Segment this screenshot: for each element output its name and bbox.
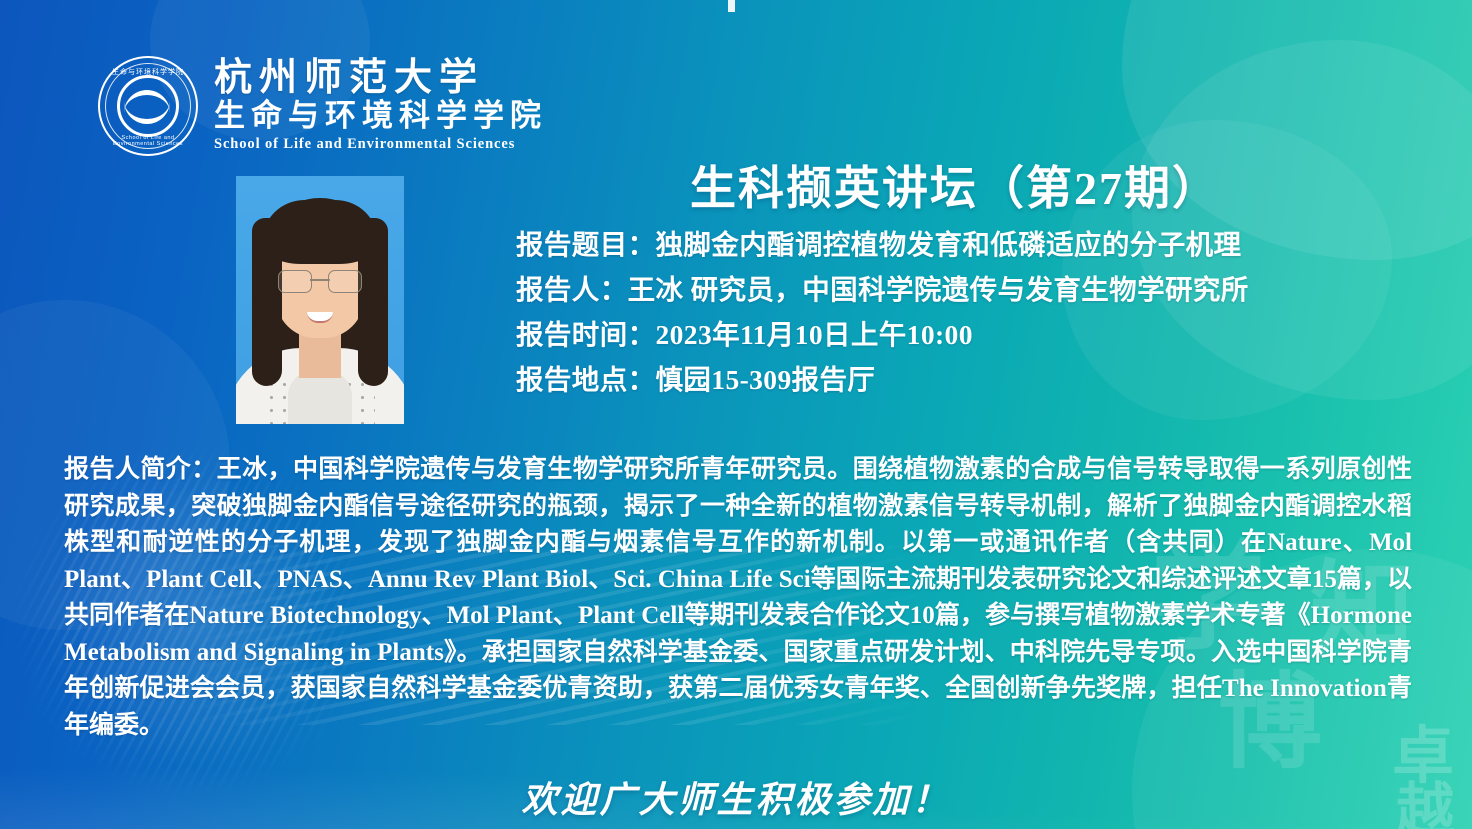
info-line-time: 报告时间：2023年11月10日上午10:00 (516, 312, 1416, 357)
info-line-title: 报告题目：独脚金内酯调控植物发育和低磷适应的分子机理 (516, 222, 1416, 267)
seal-emblem-icon (117, 75, 179, 137)
portrait-glasses-icon (278, 270, 362, 292)
university-seal-icon: 生命与环境科学学院 School of Life and Environment… (98, 56, 198, 156)
seminar-info-block: 报告题目：独脚金内酯调控植物发育和低磷适应的分子机理 报告人：王冰 研究员，中国… (516, 222, 1416, 402)
portrait-glasses-bridge (310, 279, 330, 281)
portrait-hair-left (252, 218, 282, 386)
portrait-lens-right (328, 270, 362, 293)
school-name-en: School of Life and Environmental Science… (214, 136, 547, 153)
speaker-biography: 报告人简介：王冰，中国科学院遗传与发育生物学研究所青年研究员。围绕植物激素的合成… (64, 452, 1412, 744)
info-line-speaker: 报告人：王冰 研究员，中国科学院遗传与发育生物学研究所 (516, 267, 1416, 312)
speaker-photo (236, 176, 404, 424)
biography-text: 王冰，中国科学院遗传与发育生物学研究所青年研究员。围绕植物激素的合成与信号转导取… (64, 456, 1412, 739)
welcome-message: 欢迎广大师生积极参加！ (0, 771, 1472, 823)
forum-title: 生科撷英讲坛（第27期） (690, 152, 1220, 218)
biography-label: 报告人简介： (64, 456, 217, 483)
university-logo: 生命与环境科学学院 School of Life and Environment… (98, 56, 547, 156)
seminar-poster: 学 知 博 卓 越 生命与环境科学学院 School of Life and E… (0, 0, 1472, 829)
logo-wordmark: 杭州师范大学 生命与环境科学学院 School of Life and Envi… (214, 59, 547, 153)
school-name-cn: 生命与环境科学学院 (214, 98, 547, 134)
university-name-cn: 杭州师范大学 (214, 59, 547, 99)
seal-ring-bottom-text: School of Life and Environmental Science… (100, 135, 196, 147)
poster-header: 生命与环境科学学院 School of Life and Environment… (0, 56, 1472, 168)
info-line-place: 报告地点：慎园15-309报告厅 (516, 357, 1416, 402)
top-edge-tick (728, 0, 735, 12)
portrait-lens-left (278, 270, 312, 293)
portrait-hair-right (358, 218, 388, 386)
